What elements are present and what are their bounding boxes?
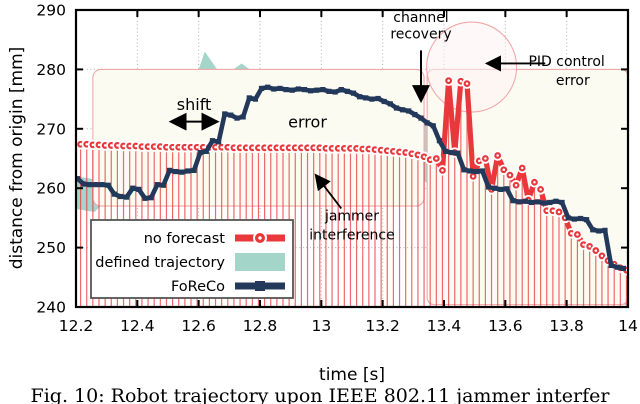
legend-label-foreco: FoReCo — [171, 279, 225, 295]
x-tick-label: 14 — [618, 317, 638, 335]
y-axis-label: distance from origin [mm] — [7, 47, 27, 270]
x-axis-label: time [s] — [319, 365, 385, 385]
y-tick-label: 240 — [36, 299, 66, 317]
y-tick-label: 290 — [36, 2, 66, 20]
annotation-pid-control-error-line1: PID control — [528, 54, 604, 70]
x-tick-label: 12.2 — [59, 317, 94, 335]
x-tick-label: 12.8 — [243, 317, 278, 335]
annotation-error: error — [288, 113, 327, 132]
chart-legend[interactable]: no forecastdefined trajectoryFoReCo — [91, 220, 293, 298]
y-tick-label: 250 — [36, 239, 66, 257]
y-tick-label: 280 — [36, 61, 66, 79]
y-tick-label: 270 — [36, 120, 66, 138]
legend-label-defined-trajectory: defined trajectory — [95, 255, 225, 271]
x-tick-label: 13.2 — [365, 317, 400, 335]
x-tick-label: 13 — [311, 317, 331, 335]
legend-label-no-forecast: no forecast — [144, 231, 226, 247]
x-tick-label: 13.6 — [488, 317, 523, 335]
figure-container: shifterrorchannelrecoveryPID controlerro… — [0, 0, 640, 404]
annotation-channel-recovery-line1: channel — [393, 10, 448, 26]
x-tick-label: 12.4 — [120, 317, 155, 335]
x-tick-label: 12.6 — [181, 317, 216, 335]
x-tick-label: 13.4 — [427, 317, 462, 335]
trajectory-chart: shifterrorchannelrecoveryPID controlerro… — [0, 0, 640, 404]
legend-swatch-defined-trajectory — [235, 253, 285, 271]
figure-caption: Fig. 10: Robot trajectory upon IEEE 802.… — [31, 385, 611, 404]
y-tick-label: 260 — [36, 180, 66, 198]
x-tick-label: 13.8 — [549, 317, 584, 335]
annotation-shift: shift — [177, 95, 212, 114]
annotation-pid-control-error-line2: error — [556, 73, 590, 89]
annotation-jammer-interference-line1: jammer — [324, 208, 379, 224]
annotation-channel-recovery-line2: recovery — [390, 27, 451, 43]
annotation-jammer-interference-line2: interference — [309, 227, 394, 243]
